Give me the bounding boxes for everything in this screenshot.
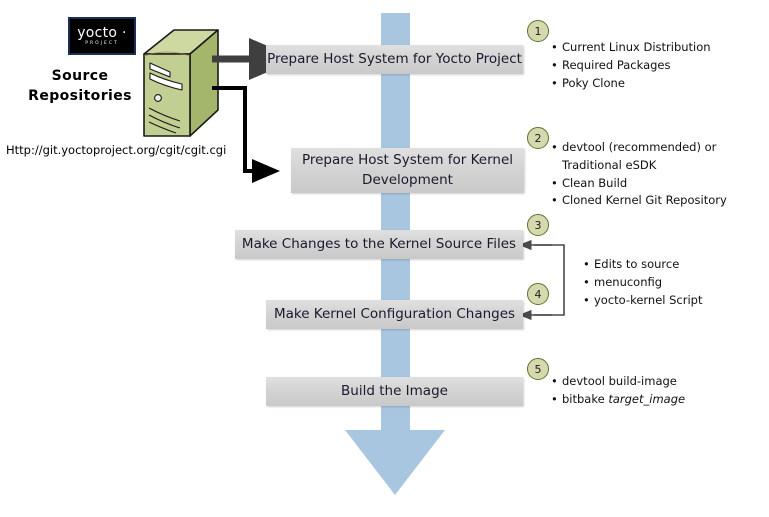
list-item: Poky Clone: [551, 75, 761, 93]
process-box-prepare-host-yocto[interactable]: Prepare Host System for Yocto Project: [266, 45, 523, 74]
list-item: Edits to source: [583, 256, 763, 274]
step-number-1: 1: [527, 20, 549, 42]
source-repositories-label: Source Repositories: [20, 66, 140, 107]
steps-3-and-4-bullet-list: Edits to source menuconfig yocto-kernel …: [583, 256, 763, 309]
step-5-bullet-list: devtool build-image bitbake target_image: [551, 373, 761, 409]
bitbake-command-prefix: bitbake: [562, 392, 608, 406]
list-item: menuconfig: [583, 274, 763, 292]
step-2-bullet-list: devtool (recommended) or Traditional eSD…: [551, 139, 763, 210]
process-box-make-kernel-source-changes[interactable]: Make Changes to the Kernel Source Files: [235, 230, 523, 259]
process-box-make-kernel-config-changes[interactable]: Make Kernel Configuration Changes: [266, 300, 523, 329]
yocto-logo-wordmark: yocto ·: [77, 26, 127, 40]
list-item: yocto-kernel Script: [583, 292, 763, 310]
list-item: devtool build-image: [551, 373, 761, 391]
list-item: Current Linux Distribution: [551, 39, 761, 57]
server-tower-icon: [140, 28, 220, 140]
source-repositories-url: Http://git.yoctoproject.org/cgit/cgit.cg…: [6, 143, 226, 157]
list-item: Required Packages: [551, 57, 761, 75]
step-number-5: 5: [527, 358, 549, 380]
list-item: devtool (recommended) or Traditional eSD…: [551, 139, 763, 175]
step-number-2: 2: [527, 127, 549, 149]
list-item: Cloned Kernel Git Repository: [551, 192, 763, 210]
flow-arrow-head: [345, 430, 445, 495]
list-item: Clean Build: [551, 175, 763, 193]
list-item: bitbake target_image: [551, 391, 761, 409]
diagram-canvas: yocto · PROJECT Source Repositories Http…: [0, 0, 769, 517]
process-box-prepare-host-kernel[interactable]: Prepare Host System for Kernel Developme…: [291, 148, 524, 193]
step-number-3: 3: [527, 214, 549, 236]
step-number-4: 4: [527, 283, 549, 305]
yocto-logo-subtext: PROJECT: [85, 42, 118, 47]
bitbake-target-image-variable: target_image: [608, 392, 685, 406]
flow-arrow-shaft: [381, 13, 410, 431]
yocto-project-logo: yocto · PROJECT: [68, 17, 136, 55]
step-1-bullet-list: Current Linux Distribution Required Pack…: [551, 39, 761, 92]
process-box-build-image[interactable]: Build the Image: [266, 377, 523, 406]
